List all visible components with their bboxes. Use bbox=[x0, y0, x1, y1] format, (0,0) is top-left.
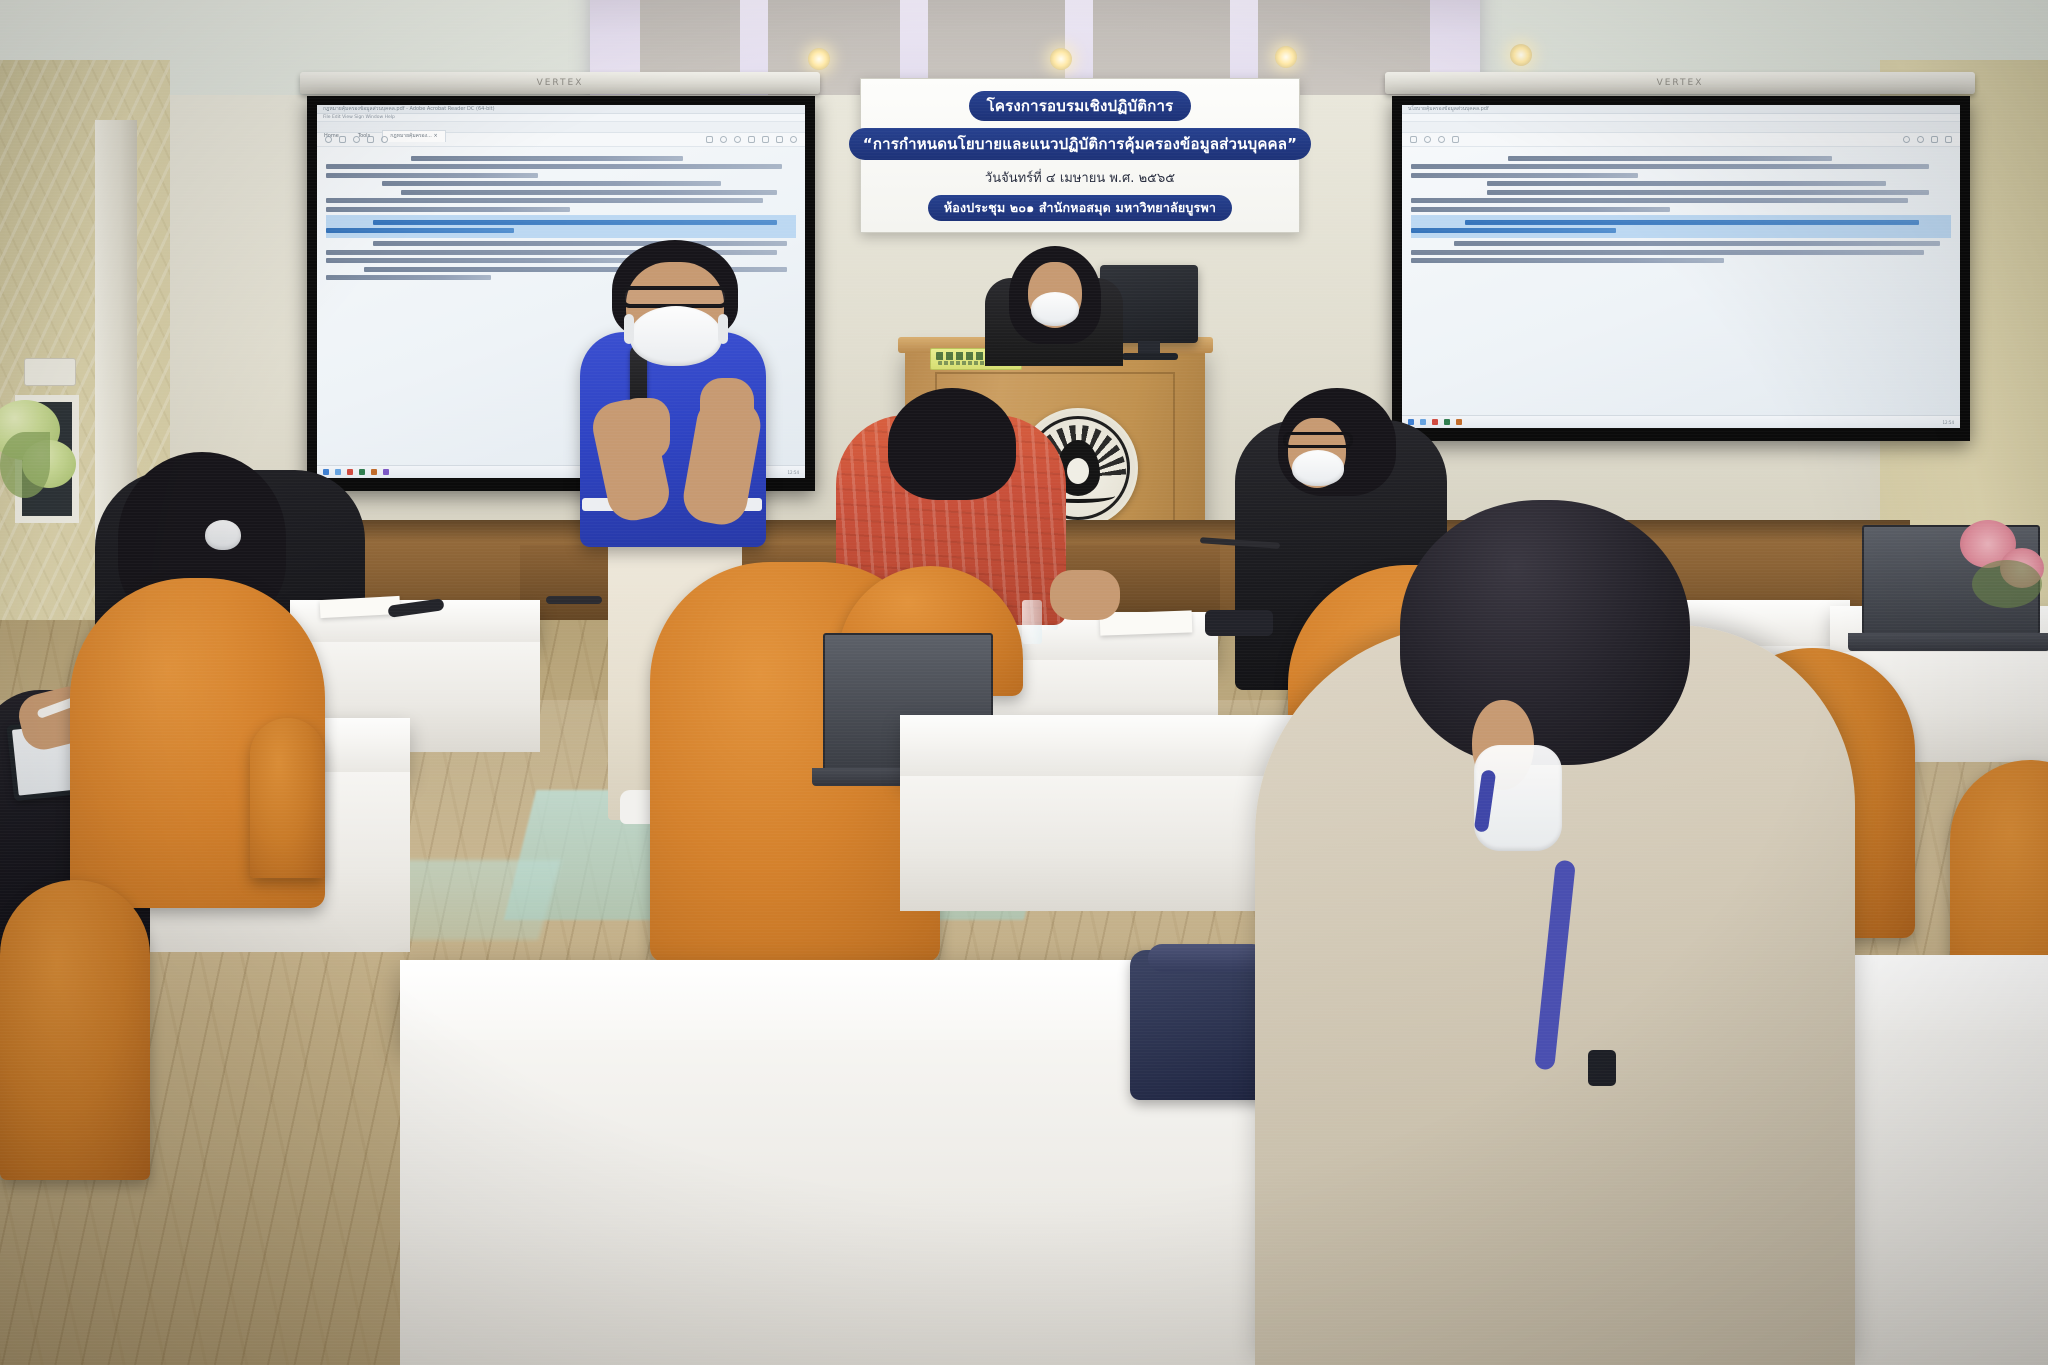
excel-icon[interactable] bbox=[1444, 419, 1450, 425]
windows-start-icon[interactable] bbox=[323, 469, 329, 475]
doc-line bbox=[1411, 173, 1638, 178]
right-screen-housing: VERTEX bbox=[1385, 72, 1975, 94]
right-screen-brand-label: VERTEX bbox=[1385, 72, 1975, 94]
pointer-icon[interactable] bbox=[706, 136, 713, 143]
banner-line-program: โครงการอบรมเชิงปฏิบัติการ bbox=[969, 91, 1192, 121]
doc-line bbox=[326, 164, 782, 169]
doc-line bbox=[1508, 156, 1832, 161]
doc-line bbox=[373, 241, 787, 246]
attendee-suit-item bbox=[1205, 610, 1273, 636]
event-banner: โครงการอบรมเชิงปฏิบัติการ “การกำหนดนโยบา… bbox=[860, 78, 1300, 233]
foreground-table-right-top bbox=[1830, 955, 2048, 1035]
eyeglasses-icon bbox=[1283, 432, 1353, 448]
doc-line bbox=[1487, 190, 1930, 195]
zoom-icon[interactable] bbox=[381, 136, 388, 143]
doc-line bbox=[1487, 181, 1887, 186]
teams-icon[interactable] bbox=[383, 469, 389, 475]
laptop-right-keyboard[interactable] bbox=[1848, 633, 2048, 651]
acrobat-icon[interactable] bbox=[1432, 419, 1438, 425]
attendee-left-face-mask bbox=[205, 520, 241, 550]
lanyard-clip bbox=[1588, 1050, 1616, 1086]
explorer-icon[interactable] bbox=[335, 469, 341, 475]
right-pdf-title-text: นโยบายคุ้มครองข้อมูลส่วนบุคคล.pdf bbox=[1402, 105, 1960, 114]
right-screen-taskbar[interactable]: 12:54 bbox=[1402, 415, 1960, 428]
explorer-icon[interactable] bbox=[1420, 419, 1426, 425]
acrobat-icon[interactable] bbox=[347, 469, 353, 475]
powerpoint-icon[interactable] bbox=[1456, 419, 1462, 425]
attendee-front-head bbox=[1400, 500, 1690, 765]
right-pdf-tabstrip[interactable] bbox=[1402, 122, 1960, 133]
doc-line-highlighted bbox=[1411, 228, 1616, 233]
attendee-center-hair bbox=[888, 388, 1016, 500]
flower-foliage-right bbox=[1972, 560, 2042, 608]
zoom-out-icon[interactable] bbox=[720, 136, 727, 143]
doc-highlighted-block bbox=[326, 215, 796, 238]
powerpoint-icon[interactable] bbox=[371, 469, 377, 475]
water-bottle[interactable] bbox=[1022, 600, 1042, 644]
left-pdf-title-text: กฎหมายคุ้มครองข้อมูลส่วนบุคคล.pdf - Adob… bbox=[317, 105, 805, 114]
doc-line bbox=[1411, 198, 1908, 203]
fit-page-icon[interactable] bbox=[1931, 136, 1938, 143]
doc-line-highlighted bbox=[373, 220, 777, 225]
doc-line bbox=[1411, 250, 1924, 255]
doc-line bbox=[1411, 164, 1929, 169]
doc-line bbox=[411, 156, 684, 161]
handout-papers[interactable] bbox=[1100, 610, 1193, 635]
doc-line bbox=[401, 190, 777, 195]
left-screen-housing: VERTEX bbox=[300, 72, 820, 94]
left-screen-brand-label: VERTEX bbox=[300, 72, 820, 94]
right-screen-clock: 12:54 bbox=[1942, 420, 1954, 425]
save-icon[interactable] bbox=[325, 136, 332, 143]
page-icon[interactable] bbox=[1452, 136, 1459, 143]
left-pdf-titlebar: กฎหมายคุ้มครองข้อมูลส่วนบุคคล.pdf - Adob… bbox=[317, 105, 805, 114]
left-pdf-menubar[interactable]: File Edit View Sign Window Help bbox=[317, 114, 805, 122]
left-pdf-menu-text: File Edit View Sign Window Help bbox=[317, 114, 805, 122]
mask-strap-left bbox=[624, 314, 634, 344]
share-icon[interactable] bbox=[790, 136, 797, 143]
left-pdf-tab-document[interactable]: กฎหมายคุ้มครอง... × bbox=[382, 130, 445, 142]
comment-icon[interactable] bbox=[1945, 136, 1952, 143]
doc-line bbox=[326, 198, 763, 203]
ceiling-downlight-icon bbox=[808, 48, 830, 70]
zoom-in-icon[interactable] bbox=[1917, 136, 1924, 143]
print-icon[interactable] bbox=[339, 136, 346, 143]
left-screen-clock: 12:54 bbox=[787, 470, 799, 475]
comment-icon[interactable] bbox=[762, 136, 769, 143]
search-icon[interactable] bbox=[353, 136, 360, 143]
right-pdf-titlebar: นโยบายคุ้มครองข้อมูลส่วนบุคคล.pdf bbox=[1402, 105, 1960, 114]
doc-line bbox=[1454, 241, 1940, 246]
doc-highlighted-block bbox=[1411, 215, 1951, 238]
doc-line bbox=[326, 207, 570, 212]
banner-line-topic: “การกำหนดนโยบายและแนวปฏิบัติการคุ้มครองข… bbox=[849, 128, 1311, 160]
save-icon[interactable] bbox=[1410, 136, 1417, 143]
conference-room-photo: VERTEX กฎหมายคุ้มครองข้อมูลส่วนบุคคล.pdf… bbox=[0, 0, 2048, 1365]
podium-monitor-base bbox=[1122, 353, 1178, 360]
banner-line-date: วันจันทร์ที่ ๔ เมษายน พ.ศ. ๒๕๖๕ bbox=[985, 167, 1175, 188]
page-icon[interactable] bbox=[367, 136, 374, 143]
left-pdf-document[interactable] bbox=[317, 147, 805, 280]
mask-strap-right bbox=[718, 314, 728, 344]
doc-line-highlighted bbox=[1465, 220, 1919, 225]
flower-foliage-left bbox=[0, 432, 50, 498]
excel-icon[interactable] bbox=[359, 469, 365, 475]
doc-line bbox=[326, 173, 538, 178]
banner-line-venue: ห้องประชุม ๒๐๑ สำนักหอสมุด มหาวิทยาลัยบู… bbox=[928, 195, 1232, 221]
right-screen-content: นโยบายคุ้มครองข้อมูลส่วนบุคคล.pdf bbox=[1402, 105, 1960, 428]
right-pdf-document[interactable] bbox=[1402, 147, 1960, 263]
right-pdf-toolbar[interactable] bbox=[1402, 133, 1960, 147]
doc-line bbox=[1411, 207, 1670, 212]
ceiling-downlight-icon bbox=[1510, 44, 1532, 66]
left-pdf-tabstrip[interactable]: Home Tools กฎหมายคุ้มครอง... × bbox=[317, 122, 805, 133]
fit-page-icon[interactable] bbox=[748, 136, 755, 143]
ceiling-downlight-icon bbox=[1050, 48, 1072, 70]
doc-line-highlighted bbox=[326, 228, 514, 233]
speaker-face-mask bbox=[630, 306, 722, 366]
doc-line bbox=[382, 181, 720, 186]
doc-line bbox=[326, 275, 491, 280]
star-icon[interactable] bbox=[1424, 136, 1431, 143]
chair[interactable] bbox=[250, 718, 325, 878]
right-projection-screen: นโยบายคุ้มครองข้อมูลส่วนบุคคล.pdf bbox=[1392, 96, 1970, 441]
attendee-center-hand bbox=[1050, 570, 1120, 620]
light-switch-plate[interactable] bbox=[24, 358, 76, 386]
zoom-out-icon[interactable] bbox=[1903, 136, 1910, 143]
cable bbox=[546, 596, 602, 604]
search-icon[interactable] bbox=[1438, 136, 1445, 143]
ceiling-downlight-icon bbox=[1275, 46, 1297, 68]
speaker-hand-gesturing bbox=[700, 378, 754, 440]
chair[interactable] bbox=[0, 880, 150, 1180]
foreground-table-right-skirt bbox=[1830, 1030, 2048, 1365]
eyeglasses-icon bbox=[621, 286, 729, 308]
bag-strap bbox=[1148, 944, 1266, 972]
doc-line bbox=[326, 258, 636, 263]
doc-line bbox=[1411, 258, 1724, 263]
right-pdf-menubar[interactable] bbox=[1402, 114, 1960, 122]
zoom-in-icon[interactable] bbox=[734, 136, 741, 143]
attendee-suit-face-mask bbox=[1292, 450, 1344, 486]
highlight-icon[interactable] bbox=[776, 136, 783, 143]
speaker-hand-holding-mic bbox=[618, 398, 670, 460]
moderator-face-mask bbox=[1031, 292, 1079, 326]
